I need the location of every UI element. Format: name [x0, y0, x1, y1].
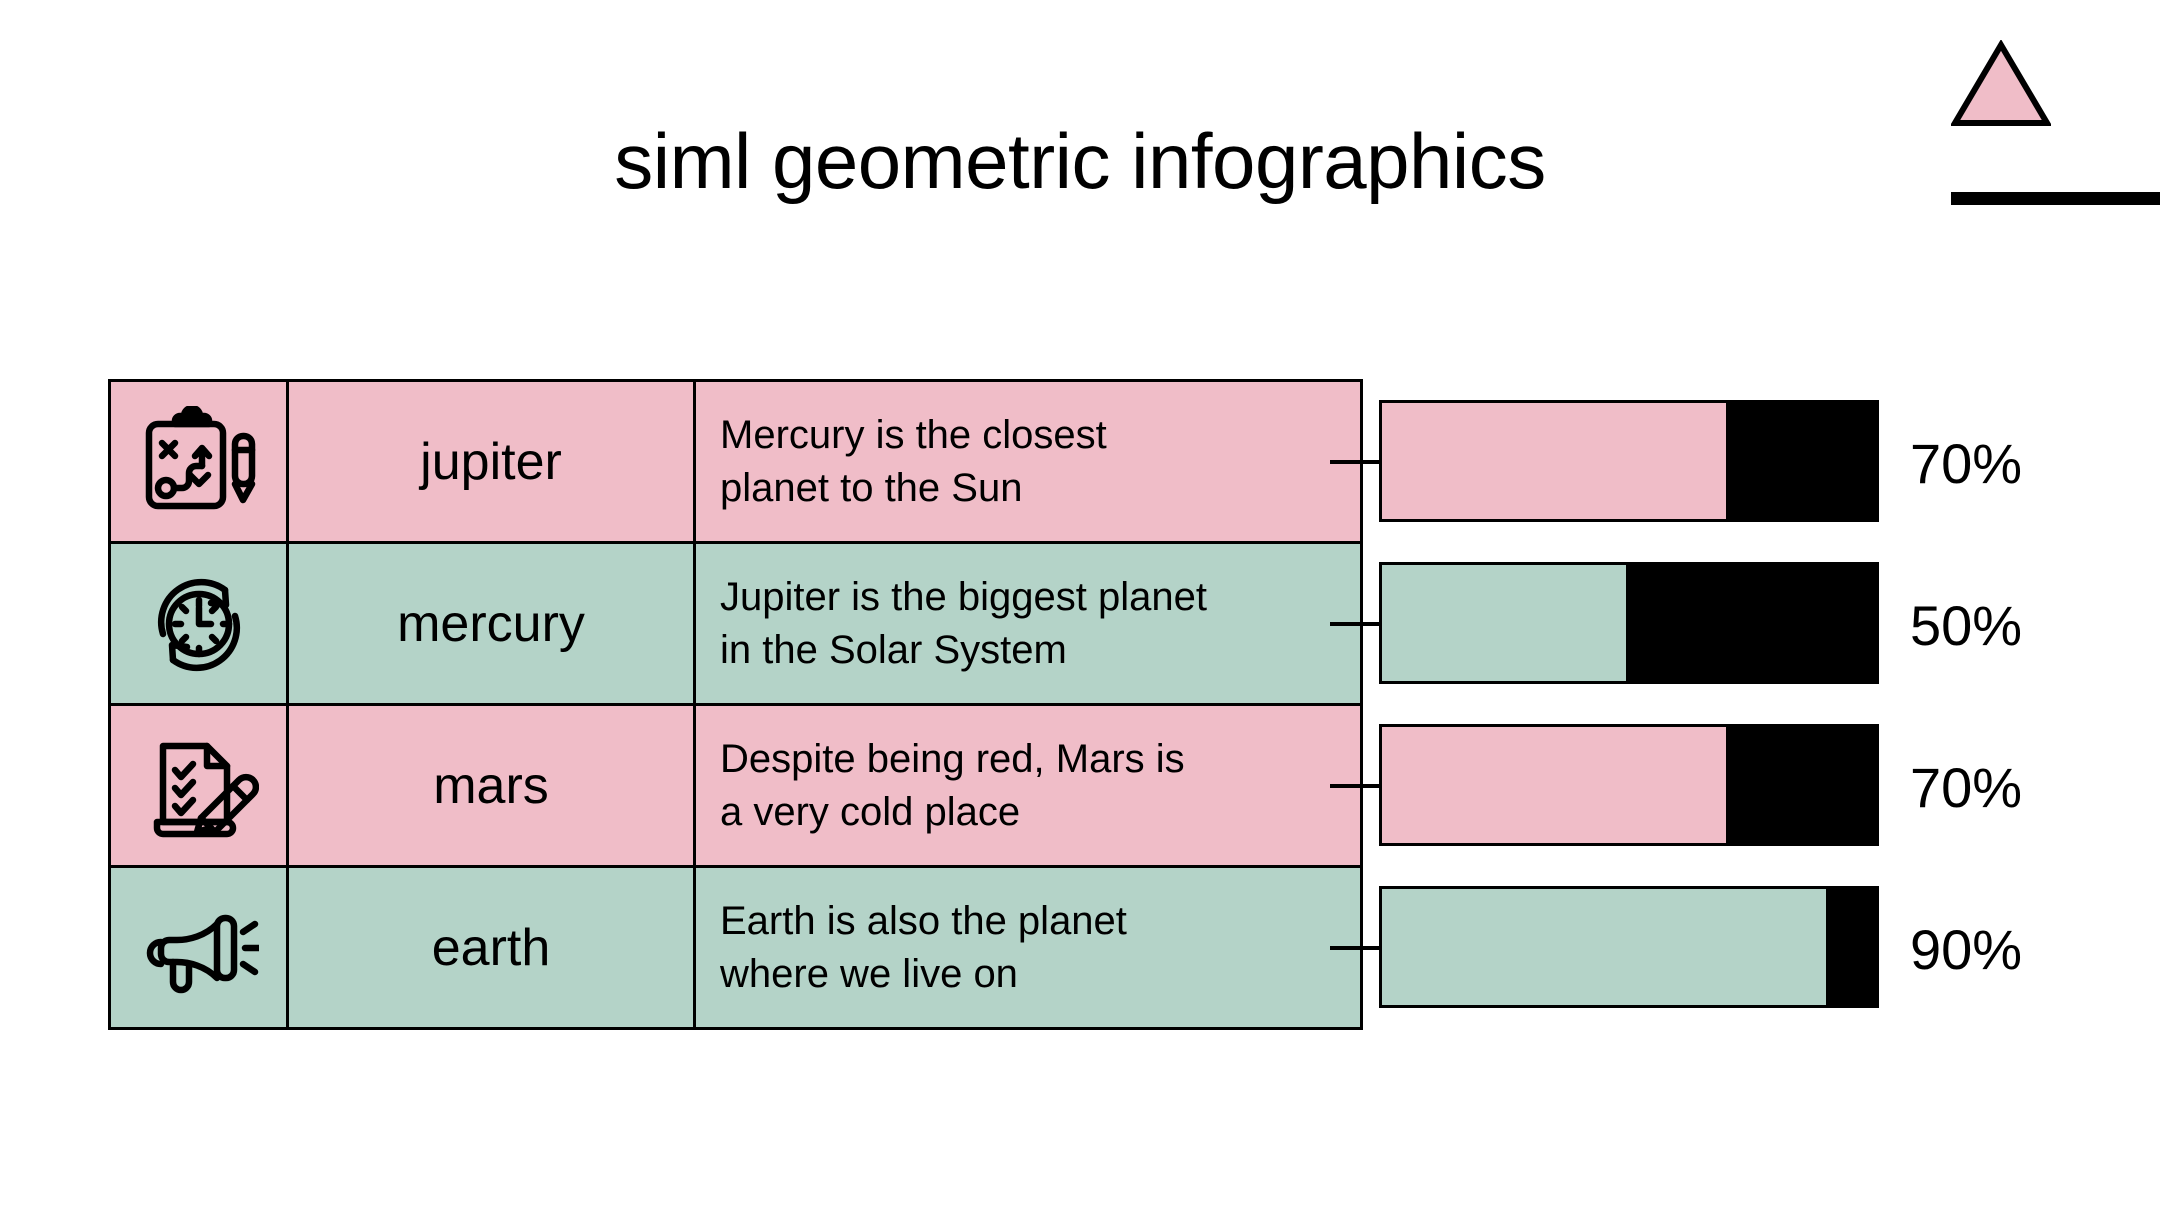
planet-name: mars: [288, 705, 695, 867]
horizontal-rule-decoration: [1951, 192, 2160, 205]
description-line-2: where we live on: [720, 948, 1360, 1001]
progress-bar-fill: [1379, 562, 1629, 684]
clock-refresh-icon: [110, 543, 288, 705]
triangle-shape-svg: [1951, 40, 2051, 128]
triangle-icon: [1951, 40, 2051, 128]
planet-name: earth: [288, 867, 695, 1029]
connector-line: [1330, 784, 1380, 788]
clipboard-strategy-pencil-icon: [110, 381, 288, 543]
progress-bar[interactable]: [1379, 562, 1879, 684]
table-row[interactable]: jupiter Mercury is the closest planet to…: [110, 381, 1362, 543]
progress-bar[interactable]: [1379, 400, 1879, 522]
description-line-1: Jupiter is the biggest planet: [720, 571, 1360, 624]
connector-line: [1330, 622, 1380, 626]
progress-percent-label: 90%: [1910, 917, 2130, 982]
table-row[interactable]: earth Earth is also the planet where we …: [110, 867, 1362, 1029]
info-table: jupiter Mercury is the closest planet to…: [108, 379, 1363, 1030]
planet-name: mercury: [288, 543, 695, 705]
progress-bar-fill: [1379, 886, 1829, 1008]
progress-bar-fill: [1379, 400, 1729, 522]
megaphone-icon: [110, 867, 288, 1029]
description-line-1: Earth is also the planet: [720, 895, 1360, 948]
connector-line: [1330, 460, 1380, 464]
progress-percent-label: 50%: [1910, 593, 2130, 658]
clock-refresh-svg: [139, 568, 259, 680]
progress-percent-label: 70%: [1910, 755, 2130, 820]
description-line-2: in the Solar System: [720, 624, 1360, 677]
megaphone-svg: [139, 892, 259, 1004]
progress-bar[interactable]: [1379, 724, 1879, 846]
description-line-2: a very cold place: [720, 786, 1360, 839]
description-line-2: planet to the Sun: [720, 462, 1360, 515]
description-line-1: Despite being red, Mars is: [720, 733, 1360, 786]
checklist-document-pencil-svg: [139, 730, 259, 842]
description-line-1: Mercury is the closest: [720, 409, 1360, 462]
planet-description: Jupiter is the biggest planet in the Sol…: [695, 543, 1362, 705]
planet-description: Despite being red, Mars is a very cold p…: [695, 705, 1362, 867]
clipboard-strategy-pencil-svg: [139, 406, 259, 518]
planet-description: Earth is also the planet where we live o…: [695, 867, 1362, 1029]
progress-bar-fill: [1379, 724, 1729, 846]
table-row[interactable]: mercury Jupiter is the biggest planet in…: [110, 543, 1362, 705]
progress-percent-label: 70%: [1910, 431, 2130, 496]
connector-line: [1330, 946, 1380, 950]
planet-name: jupiter: [288, 381, 695, 543]
planet-description: Mercury is the closest planet to the Sun: [695, 381, 1362, 543]
table-row[interactable]: mars Despite being red, Mars is a very c…: [110, 705, 1362, 867]
progress-bar[interactable]: [1379, 886, 1879, 1008]
page-title: siml geometric infographics: [0, 122, 2160, 200]
checklist-document-pencil-icon: [110, 705, 288, 867]
